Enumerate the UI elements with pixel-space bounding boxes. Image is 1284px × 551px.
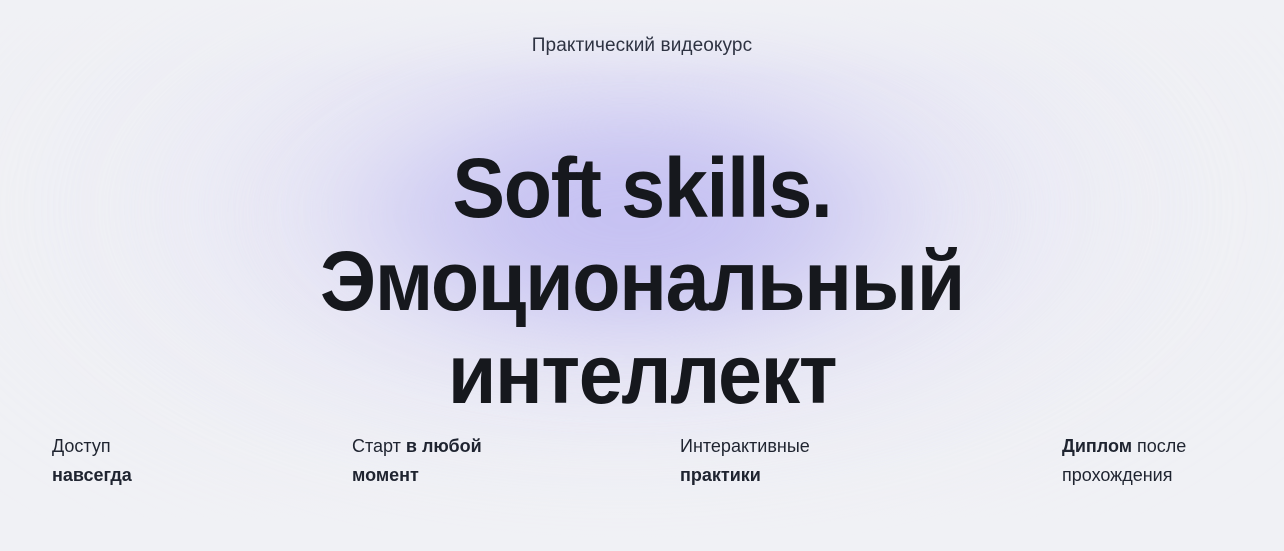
feature-item-start-line-1: Старт в любой: [352, 432, 482, 461]
feature-text-regular: после: [1132, 436, 1186, 456]
feature-item-start-line-2: момент: [352, 461, 482, 490]
feature-list: Доступ навсегда Старт в любой момент Инт…: [0, 432, 1284, 502]
feature-text-bold: практики: [680, 465, 761, 485]
feature-text-bold: навсегда: [52, 465, 132, 485]
feature-item-access-line-2: навсегда: [52, 461, 132, 490]
page-title: Soft skills. Эмоциональный интеллект: [39, 142, 1246, 421]
feature-text-regular: Доступ: [52, 436, 111, 456]
feature-item-practice: Интерактивные практики: [680, 432, 810, 490]
feature-item-start: Старт в любой момент: [352, 432, 482, 490]
feature-text-regular: Интерактивные: [680, 436, 810, 456]
page-title-line-2: Эмоциональный: [39, 235, 1246, 328]
page-title-line-3: интеллект: [39, 328, 1246, 421]
feature-item-practice-line-2: практики: [680, 461, 810, 490]
feature-text-bold: момент: [352, 465, 419, 485]
feature-item-access-line-1: Доступ: [52, 432, 132, 461]
feature-item-diploma: Диплом после прохождения: [1062, 432, 1186, 490]
hero-section: Практический видеокурс Soft skills. Эмоц…: [0, 0, 1284, 551]
hero-content: Практический видеокурс Soft skills. Эмоц…: [0, 0, 1284, 551]
feature-item-practice-line-1: Интерактивные: [680, 432, 810, 461]
feature-item-diploma-line-1: Диплом после: [1062, 432, 1186, 461]
course-eyebrow-label: Практический видеокурс: [0, 33, 1284, 59]
feature-item-access: Доступ навсегда: [52, 432, 132, 490]
page-title-line-1: Soft skills.: [39, 142, 1246, 235]
feature-text-bold: Диплом: [1062, 436, 1132, 456]
feature-text-regular: Старт: [352, 436, 406, 456]
feature-text-regular: прохождения: [1062, 465, 1172, 485]
feature-text-bold: в любой: [406, 436, 482, 456]
feature-item-diploma-line-2: прохождения: [1062, 461, 1186, 490]
